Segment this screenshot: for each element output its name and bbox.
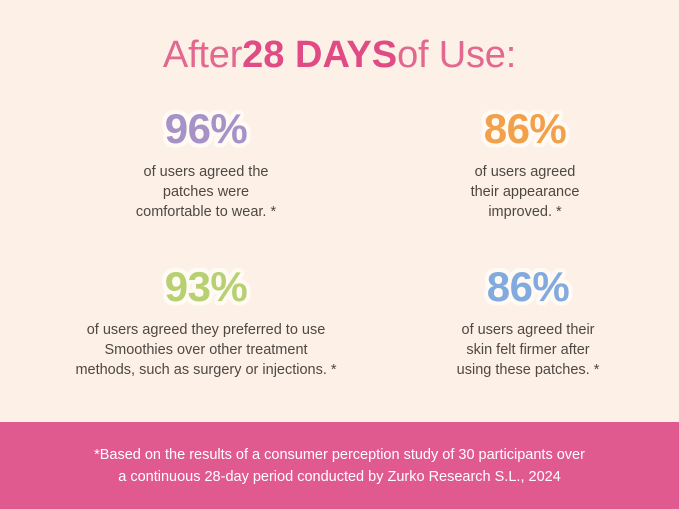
title-prefix: After: [163, 32, 242, 78]
stat-caption-firmness: of users agreed their skin felt firmer a…: [396, 320, 660, 380]
stat-card-comfort: 96% of users agreed the patches were com…: [24, 104, 388, 222]
stat-card-firmness: 86% of users agreed their skin felt firm…: [396, 262, 660, 380]
stat-caption-appearance: of users agreed their appearance improve…: [390, 162, 660, 222]
stat-value-86-firmness: 86%: [396, 262, 660, 312]
title-suffix: of Use:: [397, 32, 516, 78]
page-title: After 28 DAYS of Use:: [0, 32, 679, 78]
stat-card-appearance: 86% of users agreed their appearance imp…: [390, 104, 660, 222]
stat-value-96: 96%: [24, 104, 388, 154]
title-highlight: 28 DAYS: [242, 32, 397, 78]
footer-disclaimer: *Based on the results of a consumer perc…: [76, 444, 603, 488]
stat-value-93: 93%: [16, 262, 396, 312]
stats-grid: 96% of users agreed the patches were com…: [0, 104, 679, 404]
stat-card-preference: 93% of users agreed they preferred to us…: [16, 262, 396, 380]
stat-caption-comfort: of users agreed the patches were comfort…: [24, 162, 388, 222]
footer-banner: *Based on the results of a consumer perc…: [0, 422, 679, 509]
stat-caption-preference: of users agreed they preferred to use Sm…: [16, 320, 396, 380]
infographic-canvas: After 28 DAYS of Use: 96% of users agree…: [0, 0, 679, 509]
stat-value-86-appearance: 86%: [390, 104, 660, 154]
